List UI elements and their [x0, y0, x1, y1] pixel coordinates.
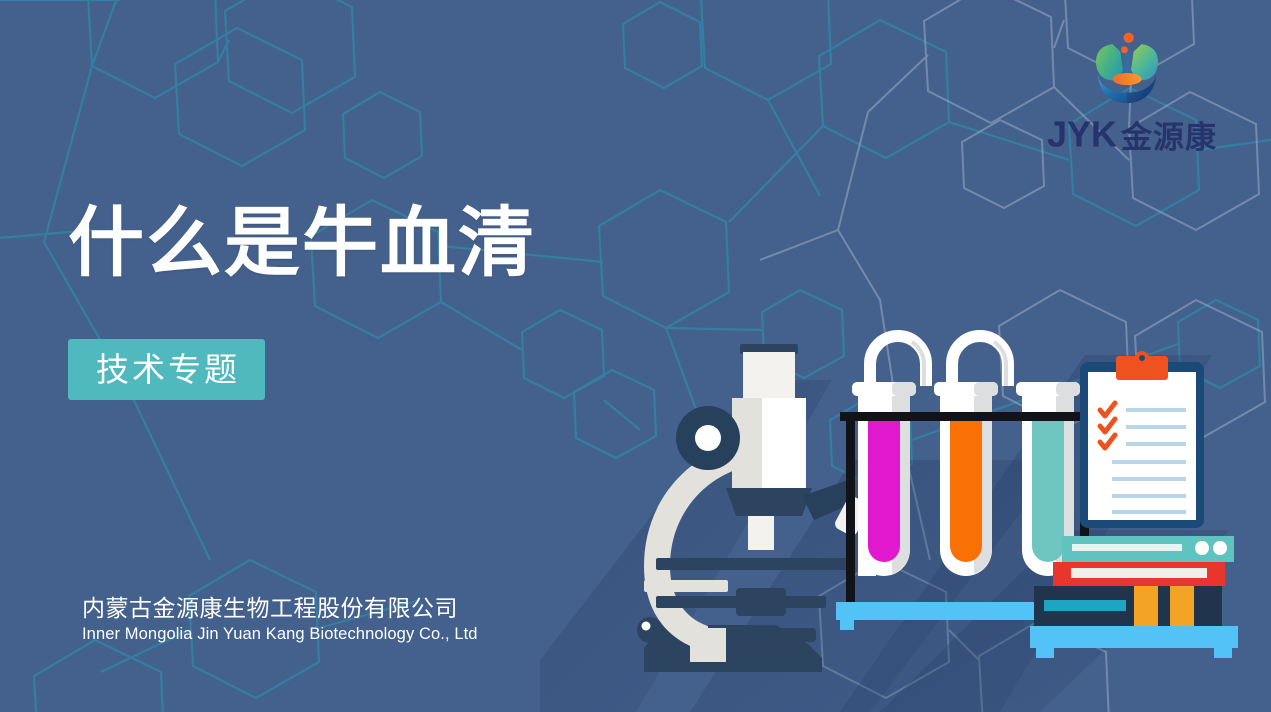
book-shelf [1030, 626, 1238, 648]
rack-top-bar [840, 412, 1096, 421]
bookmark-1 [1134, 586, 1158, 626]
logo-wordmark: JYK金源康 [1032, 112, 1232, 157]
clipboard-checkmarks [1100, 403, 1115, 448]
topic-badge: 技术专题 [68, 339, 265, 400]
bookmark-2 [1170, 586, 1194, 626]
clipboard [1080, 351, 1204, 528]
rack-left-leg [846, 418, 855, 604]
laboratory-flat-illustration [540, 330, 1271, 712]
logo-wordmark-latin: JYK [1047, 114, 1117, 155]
page-title: 什么是牛血清 [68, 206, 536, 282]
test-tube-3-liquid [1032, 418, 1064, 562]
brand-logo: JYK金源康 [1032, 24, 1232, 156]
topic-badge-label: 技术专题 [93, 353, 240, 386]
logo-wordmark-cn: 金源康 [1121, 120, 1217, 155]
tube-connector-pipes [870, 336, 1008, 386]
company-footer: 内蒙古金源康生物工程股份有限公司 Inner Mongolia Jin Yuan… [82, 594, 478, 645]
flask-gradient-icon [1084, 24, 1170, 110]
test-tube-2-liquid [950, 418, 982, 562]
title-slide: 什么是牛血清 技术专题 内蒙古金源康生物工程股份有限公司 Inner Mongo… [0, 0, 1271, 712]
company-name-cn: 内蒙古金源康生物工程股份有限公司 [82, 594, 478, 622]
company-name-en: Inner Mongolia Jin Yuan Kang Biotechnolo… [82, 623, 478, 645]
test-tube-1-liquid [868, 418, 900, 562]
